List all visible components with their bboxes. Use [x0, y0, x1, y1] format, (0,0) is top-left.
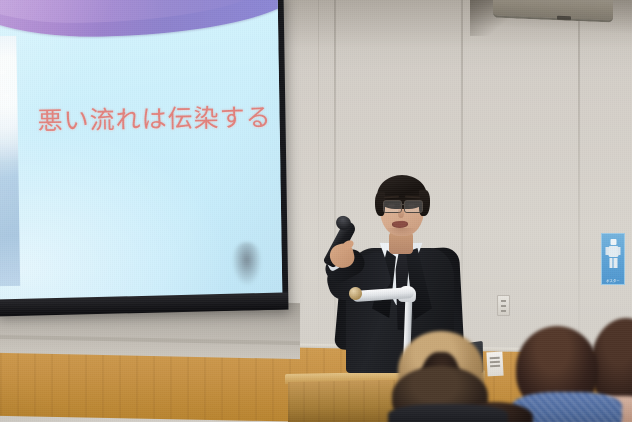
wall-poster: ポスター [601, 233, 625, 285]
slide-headline: 悪い流れは伝染する [37, 98, 258, 137]
presentation-slide: 悪い流れは伝染する [0, 0, 282, 300]
audience-member-shoulders [388, 404, 508, 422]
projection-screen: 悪い流れは伝染する [0, 0, 282, 300]
poster-caption: ポスター [602, 278, 624, 283]
presentation-photo: 悪い流れは伝染する ポスター [0, 0, 632, 422]
slide-silhouette [232, 242, 263, 286]
presenter-nose [398, 207, 404, 218]
wall-panel-seam [578, 0, 580, 340]
microphone-stand-knob [349, 287, 362, 300]
paper-sheet [486, 352, 503, 377]
poster-figure-icon [608, 239, 619, 273]
presenter-chin-shading [387, 228, 415, 236]
wall-panel-seam [318, 0, 319, 340]
wall-outlet-icon [497, 295, 510, 316]
eyeglasses-bridge-icon [400, 204, 405, 205]
ac-vent-icon [557, 16, 571, 21]
eyeglasses-lens-right-icon [404, 200, 423, 213]
wall-panel-seam [334, 0, 336, 352]
